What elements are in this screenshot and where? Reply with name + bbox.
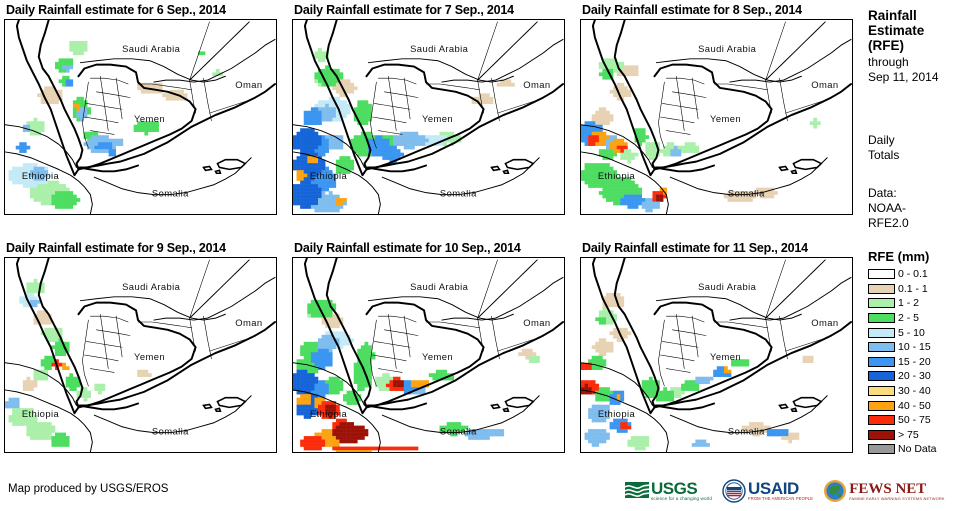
map-panel-sep-6[interactable]: Daily Rainfall estimate for 6 Sep., 2014…	[4, 2, 280, 218]
footer-credit: Map produced by USGS/EROS	[8, 483, 168, 495]
legend-swatch-5	[868, 342, 895, 352]
usgs-wordmark: USGS	[651, 481, 712, 496]
panel-frame-sep-9[interactable]: Saudi ArabiaOmanYemenEthiopiaSomalia	[4, 257, 277, 453]
rfe-heading-line2: Estimate	[868, 23, 966, 38]
country-label-yemen: Yemen	[422, 352, 453, 362]
legend-row-4[interactable]: 5 - 10	[866, 325, 966, 340]
legend-label-7: 20 - 30	[898, 370, 931, 382]
legend-swatch-9	[868, 401, 895, 411]
usaid-logo: USAID FROM THE AMERICAN PEOPLE	[722, 477, 813, 505]
rfe-heading-line1: Rainfall	[868, 8, 966, 23]
country-label-ethiopia: Ethiopia	[598, 171, 636, 181]
panel-title-sep-7: Daily Rainfall estimate for 7 Sep., 2014	[292, 2, 568, 19]
panel-frame-sep-7[interactable]: Saudi ArabiaOmanYemenEthiopiaSomalia	[292, 19, 565, 215]
legend-row-3[interactable]: 2 - 5	[866, 311, 966, 326]
rfe-totals-line1: Daily	[868, 133, 966, 148]
country-label-somalia: Somalia	[728, 427, 765, 437]
panel-title-sep-11: Daily Rainfall estimate for 11 Sep., 201…	[580, 240, 856, 257]
rfe-legend: RFE (mm) 0 - 0.10.1 - 11 - 22 - 55 - 101…	[866, 249, 966, 457]
legend-swatch-3	[868, 313, 895, 323]
rfe-data-source-block: Data: NOAA- RFE2.0	[868, 186, 966, 231]
country-label-ethiopia: Ethiopia	[310, 409, 348, 419]
rainfall-raster-sep-6: Saudi ArabiaOmanYemenEthiopiaSomalia	[5, 20, 276, 214]
rfe-through-date: Sep 11, 2014	[868, 70, 966, 85]
rainfall-raster-sep-8: Saudi ArabiaOmanYemenEthiopiaSomalia	[581, 20, 852, 214]
country-label-yemen: Yemen	[710, 352, 741, 362]
legend-swatch-11	[868, 430, 895, 440]
rfe-heading-line3: (RFE)	[868, 38, 966, 53]
country-label-saudi-arabia: Saudi Arabia	[698, 282, 757, 292]
legend-swatch-10	[868, 415, 895, 425]
legend-row-5[interactable]: 10 - 15	[866, 340, 966, 355]
country-label-saudi-arabia: Saudi Arabia	[698, 44, 757, 54]
fews-globe-icon	[823, 479, 847, 503]
rfe-through-label: through	[868, 55, 966, 70]
country-label-saudi-arabia: Saudi Arabia	[410, 44, 469, 54]
rainfall-raster-sep-9: Saudi ArabiaOmanYemenEthiopiaSomalia	[5, 258, 276, 452]
legend-label-4: 5 - 10	[898, 327, 925, 339]
legend-label-2: 1 - 2	[898, 297, 919, 309]
country-label-yemen: Yemen	[134, 114, 165, 124]
country-label-oman: Oman	[811, 318, 838, 328]
legend-label-5: 10 - 15	[898, 341, 931, 353]
fews-net-logo: FEWS NET FAMINE EARLY WARNING SYSTEMS NE…	[823, 477, 945, 505]
rfe-totals-block: Daily Totals	[868, 133, 966, 163]
country-label-ethiopia: Ethiopia	[22, 409, 60, 419]
panel-frame-sep-8[interactable]: Saudi ArabiaOmanYemenEthiopiaSomalia	[580, 19, 853, 215]
country-label-ethiopia: Ethiopia	[598, 409, 636, 419]
panel-frame-sep-10[interactable]: Saudi ArabiaOmanYemenEthiopiaSomalia	[292, 257, 565, 453]
country-label-yemen: Yemen	[710, 114, 741, 124]
rfe-data-source-line1: NOAA-	[868, 201, 966, 216]
panel-frame-sep-6[interactable]: Saudi ArabiaOmanYemenEthiopiaSomalia	[4, 19, 277, 215]
panel-title-sep-6: Daily Rainfall estimate for 6 Sep., 2014	[4, 2, 280, 19]
usgs-tagline: science for a changing world	[651, 496, 712, 502]
usgs-logo: USGS science for a changing world	[624, 477, 712, 505]
side-panel: Rainfall Estimate (RFE) through Sep 11, …	[862, 0, 967, 511]
rfe-data-label: Data:	[868, 186, 966, 201]
panel-frame-sep-11[interactable]: Saudi ArabiaOmanYemenEthiopiaSomalia	[580, 257, 853, 453]
country-label-somalia: Somalia	[728, 189, 765, 199]
legend-label-3: 2 - 5	[898, 312, 919, 324]
fews-net-wordmark: FEWS NET	[849, 482, 945, 496]
legend-rows: 0 - 0.10.1 - 11 - 22 - 55 - 1010 - 1515 …	[866, 267, 966, 457]
country-label-oman: Oman	[523, 80, 550, 90]
legend-row-11[interactable]: > 75	[866, 428, 966, 443]
legend-row-6[interactable]: 15 - 20	[866, 355, 966, 370]
legend-swatch-6	[868, 357, 895, 367]
rainfall-raster-sep-11: Saudi ArabiaOmanYemenEthiopiaSomalia	[581, 258, 852, 452]
map-panel-sep-7[interactable]: Daily Rainfall estimate for 7 Sep., 2014…	[292, 2, 568, 218]
usaid-wordmark: USAID	[748, 481, 813, 496]
map-panel-sep-11[interactable]: Daily Rainfall estimate for 11 Sep., 201…	[580, 240, 856, 456]
legend-row-7[interactable]: 20 - 30	[866, 369, 966, 384]
legend-row-12[interactable]: No Data	[866, 442, 966, 457]
country-label-somalia: Somalia	[440, 427, 477, 437]
legend-row-9[interactable]: 40 - 50	[866, 398, 966, 413]
country-label-somalia: Somalia	[152, 427, 189, 437]
country-label-ethiopia: Ethiopia	[310, 171, 348, 181]
legend-label-8: 30 - 40	[898, 385, 931, 397]
legend-label-1: 0.1 - 1	[898, 283, 928, 295]
rfe-data-source-line2: RFE2.0	[868, 216, 966, 231]
country-label-somalia: Somalia	[440, 189, 477, 199]
country-label-saudi-arabia: Saudi Arabia	[122, 282, 181, 292]
map-panel-grid: Daily Rainfall estimate for 6 Sep., 2014…	[0, 0, 860, 473]
legend-swatch-12	[868, 444, 895, 454]
rainfall-raster-sep-7: Saudi ArabiaOmanYemenEthiopiaSomalia	[293, 20, 564, 214]
legend-swatch-1	[868, 284, 895, 294]
legend-row-10[interactable]: 50 - 75	[866, 413, 966, 428]
rfe-map-page: Daily Rainfall estimate for 6 Sep., 2014…	[0, 0, 967, 511]
rfe-through-block: through Sep 11, 2014	[868, 55, 966, 85]
legend-label-6: 15 - 20	[898, 356, 931, 368]
map-panel-sep-10[interactable]: Daily Rainfall estimate for 10 Sep., 201…	[292, 240, 568, 456]
panel-title-sep-10: Daily Rainfall estimate for 10 Sep., 201…	[292, 240, 568, 257]
legend-label-11: > 75	[898, 429, 919, 441]
logo-strip: USGS science for a changing world USAID …	[624, 476, 945, 506]
rainfall-raster-sep-10: Saudi ArabiaOmanYemenEthiopiaSomalia	[293, 258, 564, 452]
legend-swatch-8	[868, 386, 895, 396]
country-label-somalia: Somalia	[152, 189, 189, 199]
country-label-saudi-arabia: Saudi Arabia	[122, 44, 181, 54]
rfe-heading: Rainfall Estimate (RFE)	[868, 8, 966, 53]
map-panel-sep-8[interactable]: Daily Rainfall estimate for 8 Sep., 2014…	[580, 2, 856, 218]
legend-label-9: 40 - 50	[898, 400, 931, 412]
country-label-oman: Oman	[235, 80, 262, 90]
usgs-mark-icon	[624, 481, 650, 501]
country-label-oman: Oman	[811, 80, 838, 90]
legend-swatch-2	[868, 298, 895, 308]
legend-label-0: 0 - 0.1	[898, 268, 928, 280]
country-label-oman: Oman	[235, 318, 262, 328]
legend-swatch-4	[868, 328, 895, 338]
map-panel-sep-9[interactable]: Daily Rainfall estimate for 9 Sep., 2014…	[4, 240, 280, 456]
usaid-tagline: FROM THE AMERICAN PEOPLE	[748, 496, 813, 502]
legend-title: RFE (mm)	[868, 249, 966, 264]
panel-title-sep-9: Daily Rainfall estimate for 9 Sep., 2014	[4, 240, 280, 257]
legend-swatch-0	[868, 269, 895, 279]
legend-row-1[interactable]: 0.1 - 1	[866, 282, 966, 297]
usaid-seal-icon	[722, 479, 746, 503]
fews-net-tagline: FAMINE EARLY WARNING SYSTEMS NETWORK	[849, 496, 945, 501]
legend-row-0[interactable]: 0 - 0.1	[866, 267, 966, 282]
legend-label-10: 50 - 75	[898, 414, 931, 426]
legend-label-12: No Data	[898, 443, 937, 455]
legend-swatch-7	[868, 371, 895, 381]
panel-title-sep-8: Daily Rainfall estimate for 8 Sep., 2014	[580, 2, 856, 19]
country-label-ethiopia: Ethiopia	[22, 171, 60, 181]
country-label-yemen: Yemen	[422, 114, 453, 124]
country-label-oman: Oman	[523, 318, 550, 328]
legend-row-8[interactable]: 30 - 40	[866, 384, 966, 399]
country-label-saudi-arabia: Saudi Arabia	[410, 282, 469, 292]
rfe-totals-line2: Totals	[868, 148, 966, 163]
legend-row-2[interactable]: 1 - 2	[866, 296, 966, 311]
country-label-yemen: Yemen	[134, 352, 165, 362]
